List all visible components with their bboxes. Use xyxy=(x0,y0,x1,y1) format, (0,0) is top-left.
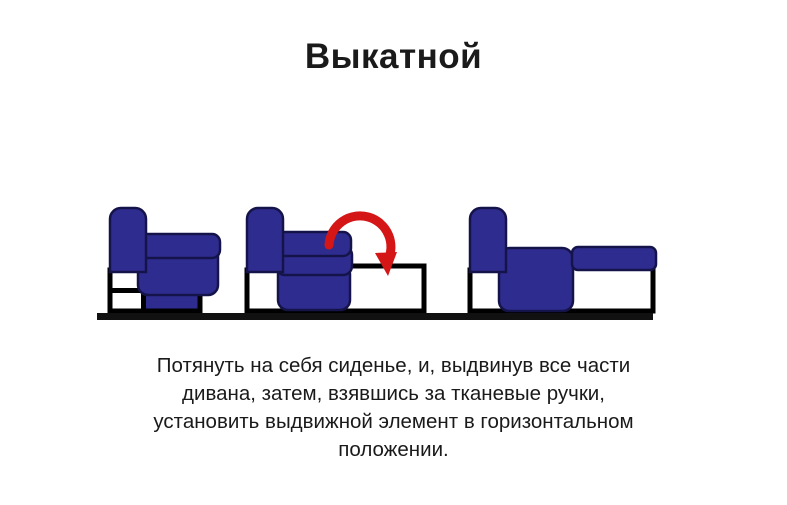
step3-seat-block xyxy=(499,248,573,311)
caption-line-3: установить выдвижной элемент в горизонта… xyxy=(93,408,694,436)
step3-flat-cushion xyxy=(572,247,656,270)
floor-line xyxy=(97,313,653,320)
caption-line-1: Потянуть на себя сиденье, и, выдвинув вс… xyxy=(93,352,694,380)
illustration-page: Выкатной xyxy=(0,0,787,505)
caption-text: Потянуть на себя сиденье, и, выдвинув вс… xyxy=(93,352,694,464)
page-title: Выкатной xyxy=(0,36,787,78)
sofa-transformation-diagram xyxy=(0,190,787,330)
step2-seat-block xyxy=(276,232,352,310)
step3-backrest xyxy=(470,208,506,272)
step2-backrest xyxy=(247,208,283,272)
caption-line-4: положении. xyxy=(93,436,694,464)
step1-backrest xyxy=(110,208,146,272)
sofa-step-3 xyxy=(470,208,656,311)
caption-line-2: дивана, затем, взявшись за тканевые ручк… xyxy=(93,380,694,408)
sofa-step-2 xyxy=(247,208,424,311)
sofa-step-1 xyxy=(110,208,220,311)
